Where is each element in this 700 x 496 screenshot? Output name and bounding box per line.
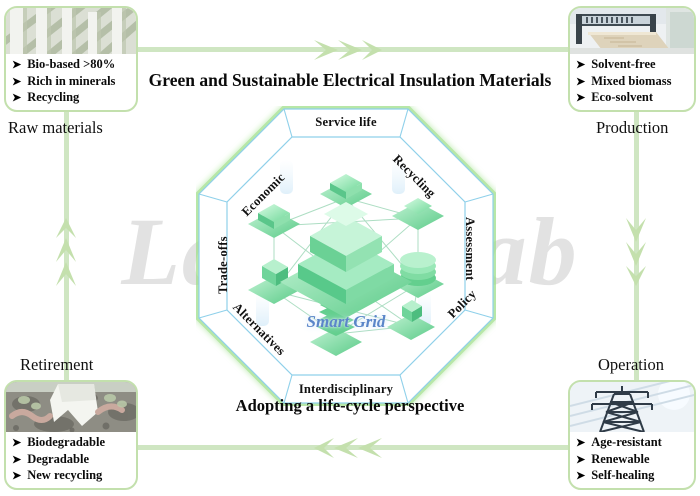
graphical-abstract: Lab to Fab bbox=[0, 0, 700, 496]
bullet-arrow-icon: ➤ bbox=[12, 436, 21, 452]
page-title: Green and Sustainable Electrical Insulat… bbox=[0, 70, 700, 91]
list-item: ➤ Renewable bbox=[576, 452, 690, 469]
bullet-arrow-icon: ➤ bbox=[576, 453, 585, 469]
bamboo-fiber-photo bbox=[6, 8, 136, 54]
octagon-label-service-life: Service life bbox=[303, 115, 389, 130]
list-item: ➤ Biodegradable bbox=[12, 435, 132, 452]
list-item-label: Self-healing bbox=[591, 468, 654, 484]
figure-caption: Adopting a life-cycle perspective bbox=[0, 396, 700, 416]
life-cycle-octagon: Smart Grid Service life Recycling Assess… bbox=[196, 106, 496, 406]
list-item-label: Eco-solvent bbox=[591, 90, 653, 106]
octagon-label-trade-offs: Trade-offs bbox=[216, 236, 231, 294]
flow-arrow-left-icon bbox=[312, 434, 384, 462]
stage-label-raw-materials: Raw materials bbox=[8, 118, 103, 138]
octagon-graphic bbox=[196, 106, 496, 406]
stage-label-retirement: Retirement bbox=[20, 355, 93, 375]
bullet-arrow-icon: ➤ bbox=[576, 469, 585, 485]
list-item-label: New recycling bbox=[27, 468, 102, 484]
bullet-arrow-icon: ➤ bbox=[576, 91, 585, 107]
bullet-arrow-icon: ➤ bbox=[576, 436, 585, 452]
list-item: ➤ New recycling bbox=[12, 468, 132, 485]
stage-label-operation: Operation bbox=[598, 355, 664, 375]
flow-arrow-up-icon bbox=[52, 216, 80, 288]
stage-card-raw-materials[interactable]: ➤ Bio-based >80% ➤ Rich in minerals ➤ Re… bbox=[4, 6, 138, 112]
list-item-label: Recycling bbox=[27, 90, 79, 106]
list-item-label: Degradable bbox=[27, 452, 89, 468]
octagon-label-interdisciplinary: Interdisciplinary bbox=[288, 382, 404, 397]
list-item-label: Renewable bbox=[591, 452, 649, 468]
bullet-arrow-icon: ➤ bbox=[12, 91, 21, 107]
flow-arrow-down-icon bbox=[622, 216, 650, 288]
list-item: ➤ Recycling bbox=[12, 90, 132, 107]
bullet-list: ➤ Age-resistant ➤ Renewable ➤ Self-heali… bbox=[570, 432, 694, 489]
list-item: ➤ Self-healing bbox=[576, 468, 690, 485]
list-item: ➤ Age-resistant bbox=[576, 435, 690, 452]
bullet-arrow-icon: ➤ bbox=[12, 453, 21, 469]
bullet-list: ➤ Biodegradable ➤ Degradable ➤ New recyc… bbox=[6, 432, 136, 489]
stage-label-production: Production bbox=[596, 118, 668, 138]
bullet-arrow-icon: ➤ bbox=[12, 469, 21, 485]
lab-coating-machine-photo bbox=[570, 8, 694, 54]
flow-arrow-right-icon bbox=[312, 36, 384, 64]
list-item: ➤ Degradable bbox=[12, 452, 132, 469]
list-item-label: Biodegradable bbox=[27, 435, 105, 451]
octagon-label-assessment: Assessment bbox=[462, 217, 477, 281]
list-item: ➤ Eco-solvent bbox=[576, 90, 690, 107]
smart-grid-label: Smart Grid bbox=[196, 312, 496, 332]
list-item-label: Age-resistant bbox=[591, 435, 662, 451]
stage-card-production[interactable]: ➤ Solvent-free ➤ Mixed biomass ➤ Eco-sol… bbox=[568, 6, 696, 112]
